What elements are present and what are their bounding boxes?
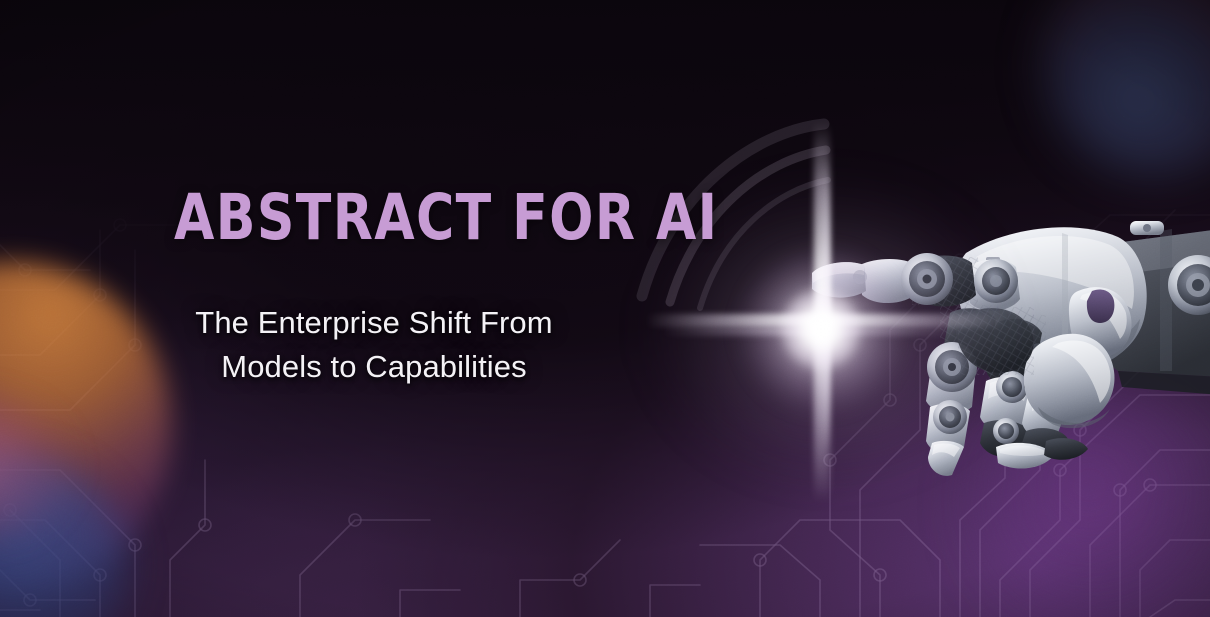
hero-banner: ABSTRACT FOR AI The Enterprise Shift Fro…	[0, 0, 1210, 617]
page-subtitle: The Enterprise Shift From Models to Capa…	[174, 301, 574, 389]
hero-copy: ABSTRACT FOR AI The Enterprise Shift Fro…	[174, 186, 574, 389]
page-subtitle-line-1: The Enterprise Shift From	[195, 305, 552, 340]
page-subtitle-line-2: Models to Capabilities	[221, 349, 526, 384]
page-title: ABSTRACT FOR AI	[174, 186, 542, 249]
